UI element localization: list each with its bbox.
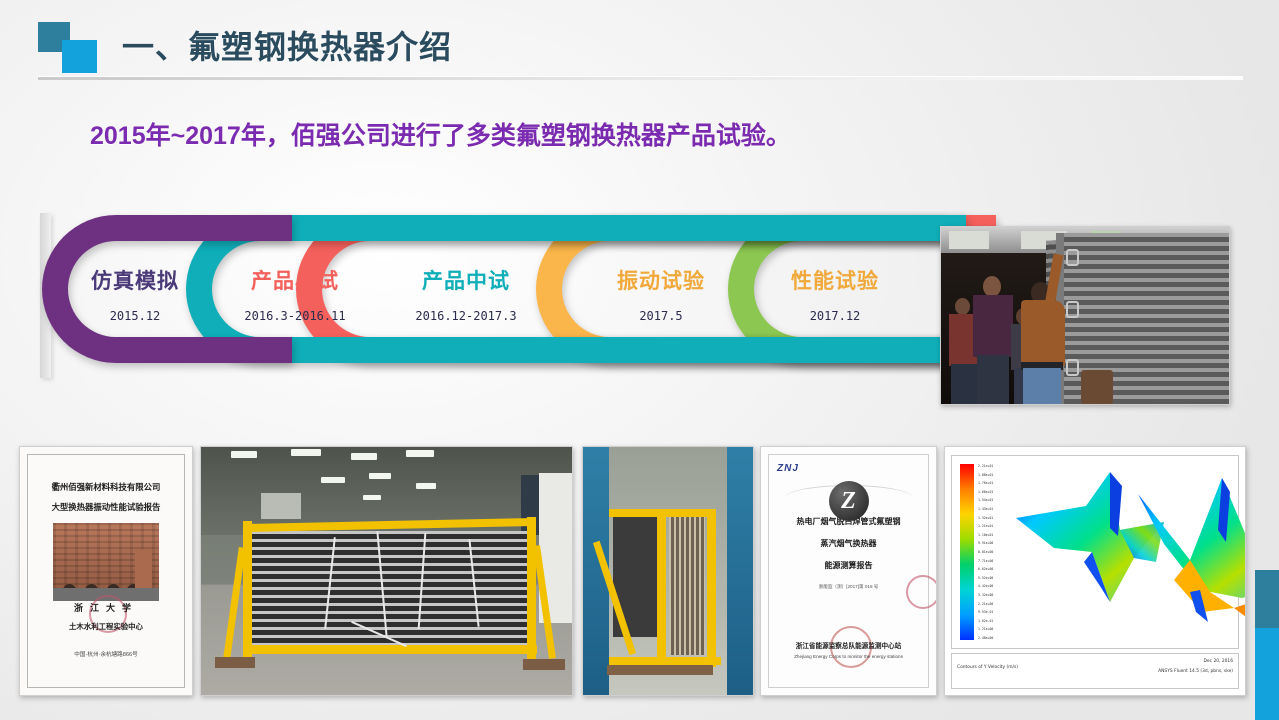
cfd-colorbar-tick: 2.21e+00 <box>978 602 993 606</box>
person-head <box>983 276 1001 297</box>
cfd-colorbar-tick: 9.93e-01 <box>978 610 993 614</box>
cfd-colorbar-tick: 4.42e+00 <box>978 584 993 588</box>
photo-site-installation <box>940 226 1230 405</box>
timeline-stage-mid-trial[interactable]: 产品中试 2016.12-2017.3 <box>381 265 551 323</box>
cover-dept: 土木水利工程实验中心 <box>28 621 184 632</box>
cfd-colorbar-tick: 1.02e-01 <box>978 619 993 623</box>
cfd-colorbar-tick: 2.21e+01 <box>978 464 993 468</box>
person-head <box>955 298 970 315</box>
stage-date: 2015.12 <box>50 309 220 323</box>
cover-address: 中国·杭州·余杭塘路866号 <box>28 650 184 658</box>
cfd-colorbar-tick: 9.91e+00 <box>978 541 993 545</box>
chamber-frame-right-post <box>707 509 716 667</box>
person-legs <box>977 355 1009 404</box>
photo-test-chamber <box>582 446 754 696</box>
panel-bolt <box>1066 359 1079 376</box>
stage-date: 2017.5 <box>576 309 746 323</box>
frame-base-plate <box>215 657 255 668</box>
footer-org-cn: 浙江省能源监察总队能源监测中心站 <box>769 640 928 650</box>
cfd-colorbar-tick: 1.76e+01 <box>978 481 993 485</box>
slide-header: 一、氟塑钢换热器介绍 <box>0 0 1279 90</box>
ceiling-lamp <box>416 483 436 489</box>
cfd-colorbar-tick: 5.52e+00 <box>978 576 993 580</box>
cfd-plot-area: 2.21e+011.88e+011.76e+011.66e+011.54e+01… <box>951 455 1239 649</box>
timeline-stage-vibration-test[interactable]: 振动试验 2017.5 <box>576 265 746 323</box>
cfd-colorbar-tick: 1.21e+01 <box>978 524 993 528</box>
timeline-stage-simulation[interactable]: 仿真模拟 2015.12 <box>50 265 220 323</box>
stage-date: 2016.12-2017.3 <box>381 309 551 323</box>
accent-bar-dark <box>1255 570 1279 628</box>
ceiling-lamp <box>231 451 257 458</box>
person-legs <box>1023 368 1061 405</box>
cover-building-photo <box>53 523 159 601</box>
stage-label: 仿真模拟 <box>50 265 220 295</box>
cover-border: 衢州佰强新材料科技有限公司 大型换热器振动性能试验报告 浙江大学 土木水利工程实… <box>27 454 185 688</box>
cover-doc-number: 浙能监（测）[2017]第 018 号 <box>769 584 928 590</box>
accent-bar-light <box>1255 628 1279 720</box>
photo-cfd-velocity-contour: 2.21e+011.88e+011.76e+011.66e+011.54e+01… <box>944 446 1246 696</box>
stage-label: 产品中试 <box>381 265 551 295</box>
ceiling-lamp <box>406 450 434 457</box>
frame-base-plate <box>523 659 565 670</box>
exchanger-fin-bundle <box>669 513 705 655</box>
cfd-caption-date: Dec 20, 2016 <box>1204 659 1233 664</box>
cfd-colorbar-tick: 7.71e+00 <box>978 559 993 563</box>
metal-drum <box>1081 370 1113 404</box>
test-frame-left-post <box>243 521 252 661</box>
official-seal <box>906 575 937 609</box>
person-pointing-worker <box>1021 244 1065 404</box>
cfd-colorbar-tick: 1.66e+01 <box>978 490 993 494</box>
cfd-colorbar-tick: 1.32e+01 <box>978 516 993 520</box>
stage-label: 振动试验 <box>576 265 746 295</box>
ceiling-lamp <box>291 449 321 456</box>
cfd-colorbar-tick: 8.81e+00 <box>978 550 993 554</box>
photo-report-cover-znj: ZNJ Z 热电厂烟气脱白焊管式氟塑钢 蒸汽烟气换热器 能源测算报告 浙能监（测… <box>760 446 937 696</box>
page-title: 一、氟塑钢换热器介绍 <box>122 22 452 68</box>
chamber-door-right <box>727 447 753 695</box>
ceiling-lamp <box>351 453 377 460</box>
cover-title-3: 能源测算报告 <box>769 560 928 571</box>
cfd-caption-solver: ANSYS Fluent 14.5 (3d, pbns, ske) <box>1158 669 1233 674</box>
test-frame-right-post <box>527 517 536 661</box>
header-divider <box>38 76 1243 80</box>
panel-bolt <box>1066 301 1079 318</box>
cfd-colorbar-tick: 1.21e+00 <box>978 627 993 631</box>
brand-mark: ZNJ <box>777 463 928 474</box>
timeline-stage-small-trial[interactable]: 产品小试 2016.3-2016.11 <box>210 265 380 323</box>
person-raised-arm <box>1045 254 1064 307</box>
znj-logo-icon: Z <box>829 481 869 521</box>
footer-org-en: Zhejiang Energy Corps to monitor the ene… <box>769 654 928 659</box>
cover-footer: 浙江省能源监察总队能源监测中心站 Zhejiang Energy Corps t… <box>769 640 928 659</box>
timeline-stage-performance-test[interactable]: 性能试验 2017.12 <box>750 265 920 323</box>
photo-vibration-test-frame <box>200 446 573 696</box>
chamber-base-plate <box>607 665 713 675</box>
photo-report-cover-zju: 衢州佰强新材料科技有限公司 大型换热器振动性能试验报告 浙江大学 土木水利工程实… <box>19 446 193 696</box>
ceiling-lamp <box>363 495 381 500</box>
lab-window <box>261 493 301 519</box>
cover-border: ZNJ Z 热电厂烟气脱白焊管式氟塑钢 蒸汽烟气换热器 能源测算报告 浙能监（测… <box>768 454 929 688</box>
cover-company-line: 衢州佰强新材料科技有限公司 <box>28 481 184 493</box>
cfd-colorbar-tick: 2.48e+00 <box>978 636 993 640</box>
stage-label: 性能试验 <box>750 265 920 295</box>
person-torso <box>1021 300 1065 366</box>
stage-date: 2017.12 <box>750 309 920 323</box>
panel-bolt <box>1066 249 1079 266</box>
cfd-caption-bar: Contours of Y Velocity (m/s) Dec 20, 201… <box>951 653 1239 689</box>
stage-date: 2016.3-2016.11 <box>210 309 380 323</box>
ceiling-lamp <box>369 473 391 479</box>
cfd-colorbar-tick: 6.62e+00 <box>978 567 993 571</box>
cover-seal-area: 浙江大学 土木水利工程实验中心 中国·杭州·余杭塘路866号 <box>28 601 184 658</box>
test-frame-bottom-rail <box>243 645 537 654</box>
cover-title-line: 大型换热器振动性能试验报告 <box>28 501 184 513</box>
cfd-colorbar-tick: 1.88e+01 <box>978 473 993 477</box>
roof-window <box>949 231 989 249</box>
ceiling-lamp <box>321 477 345 483</box>
cfd-colorbar-tick: 1.54e+01 <box>978 498 993 502</box>
heat-exchanger-tube-bundle <box>251 531 529 649</box>
cfd-caption-left: Contours of Y Velocity (m/s) <box>957 665 1018 670</box>
cfd-colorbar-tick: 1.43e+01 <box>978 507 993 511</box>
stage-label: 产品小试 <box>210 265 380 295</box>
cover-title-2: 蒸汽烟气换热器 <box>769 538 928 549</box>
process-timeline: 仿真模拟 2015.12 产品小试 2016.3-2016.11 产品中试 20… <box>28 205 928 385</box>
slide-subtitle: 2015年~2017年，佰强公司进行了多类氟塑钢换热器产品试验。 <box>90 116 791 152</box>
person-torso <box>973 295 1013 357</box>
cfd-colorbar-tick: 3.32e+00 <box>978 593 993 597</box>
cfd-surface-right <box>1134 472 1246 648</box>
header-square-light <box>62 40 97 73</box>
cfd-colorbar <box>960 464 974 640</box>
chamber-frame-mid-post <box>657 509 666 665</box>
cfd-colorbar-tick: 1.10e+01 <box>978 533 993 537</box>
cover-org: 浙江大学 <box>28 601 184 614</box>
person-observer-2 <box>973 276 1013 404</box>
